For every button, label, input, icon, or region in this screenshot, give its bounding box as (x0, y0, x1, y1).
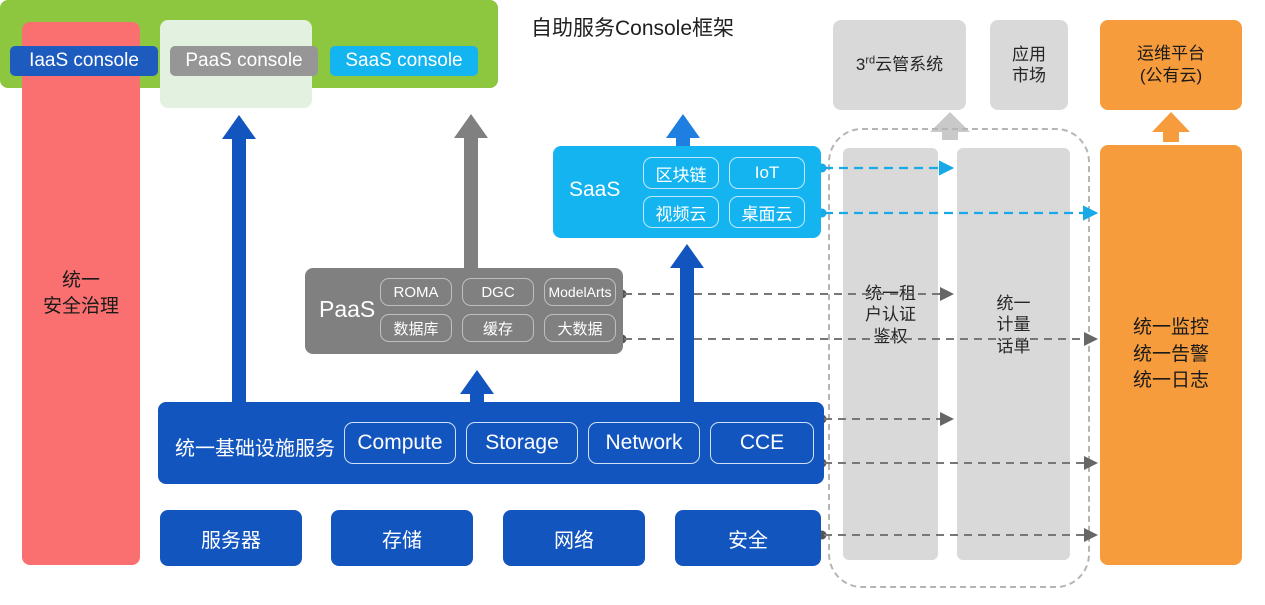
paas-chip-database[interactable]: 数据库 (380, 314, 452, 342)
paas-chip-cache-label: 缓存 (483, 318, 513, 339)
paas-chip-bigdata-label: 大数据 (557, 318, 602, 339)
hardware-box-storage[interactable]: 存储 (331, 510, 473, 566)
hardware-storage-label: 存储 (382, 524, 422, 553)
saas-chip-iot-label: IoT (755, 163, 780, 183)
saas-chip-video-cloud-label: 视频云 (656, 200, 707, 225)
infra-chip-compute-label: Compute (357, 431, 442, 455)
hardware-network-label: 网络 (554, 524, 594, 553)
hardware-box-network[interactable]: 网络 (503, 510, 645, 566)
hardware-box-security[interactable]: 安全 (675, 510, 821, 566)
saas-chip-iot[interactable]: IoT (729, 157, 805, 189)
paas-chip-dgc[interactable]: DGC (462, 278, 534, 306)
infra-chip-network[interactable]: Network (588, 422, 700, 464)
infra-chip-cce-label: CCE (740, 431, 784, 455)
saas-label: SaaS (569, 178, 620, 202)
paas-chip-dgc-label: DGC (481, 284, 514, 301)
paas-chip-bigdata[interactable]: 大数据 (544, 314, 616, 342)
paas-chip-modelarts-label: ModelArts (548, 284, 611, 300)
hardware-server-label: 服务器 (201, 524, 261, 553)
infra-chip-cce[interactable]: CCE (710, 422, 814, 464)
hardware-box-server[interactable]: 服务器 (160, 510, 302, 566)
infra-chip-network-label: Network (605, 431, 682, 455)
infra-chip-storage[interactable]: Storage (466, 422, 578, 464)
paas-chip-modelarts[interactable]: ModelArts (544, 278, 616, 306)
arrow-infra-to-saas (670, 244, 704, 406)
arrow-infra-to-paas (460, 370, 494, 406)
infra-chip-storage-label: Storage (485, 431, 559, 455)
saas-chip-desktop-cloud-label: 桌面云 (742, 200, 793, 225)
saas-chip-blockchain[interactable]: 区块链 (643, 157, 719, 189)
infra-bar-label: 统一基础设施服务 (175, 432, 335, 461)
paas-chip-cache[interactable]: 缓存 (462, 314, 534, 342)
paas-block: PaaS ROMA DGC ModelArts 数据库 缓存 大数据 (305, 268, 623, 354)
saas-chip-desktop-cloud[interactable]: 桌面云 (729, 196, 805, 228)
paas-chip-database-label: 数据库 (393, 318, 438, 339)
paas-label: PaaS (319, 296, 375, 323)
infra-chip-compute[interactable]: Compute (344, 422, 456, 464)
architecture-diagram: 统一 安全治理 API网关 自助服务Console框架 IaaS console… (0, 0, 1265, 605)
hardware-security-label: 安全 (728, 524, 768, 553)
unified-infrastructure-service-bar: 统一基础设施服务 Compute Storage Network CCE (158, 402, 824, 484)
saas-chip-blockchain-label: 区块链 (656, 161, 707, 186)
paas-chip-roma-label: ROMA (394, 284, 439, 301)
saas-chip-video-cloud[interactable]: 视频云 (643, 196, 719, 228)
saas-block: SaaS 区块链 IoT 视频云 桌面云 (553, 146, 821, 238)
paas-chip-roma[interactable]: ROMA (380, 278, 452, 306)
